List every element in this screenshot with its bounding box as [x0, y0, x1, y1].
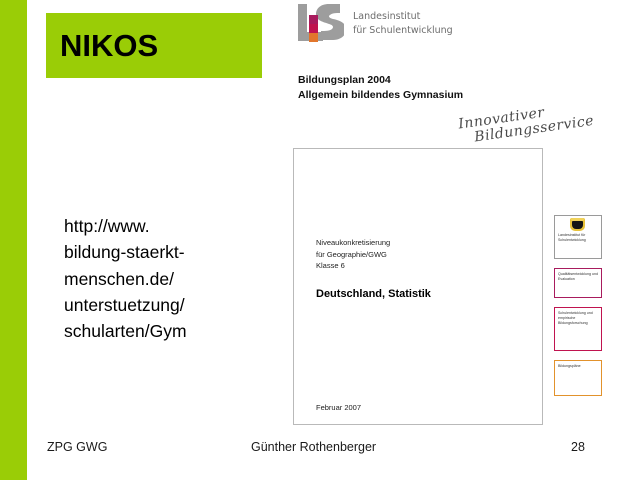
- left-accent-bar: [0, 0, 27, 480]
- thumbnail-item: Schulentwicklung und empirische Bildungs…: [554, 307, 602, 351]
- landesinstitut-logo: Landesinstitut für Schulentwicklung: [296, 2, 453, 46]
- thumbnail-label: Schulentwicklung und empirische Bildungs…: [558, 311, 593, 325]
- heading-line-1: Bildungsplan 2004: [298, 73, 463, 88]
- document-preview: Landesinstitut für Schulentwicklung Bild…: [292, 0, 640, 430]
- logo-text: Landesinstitut für Schulentwicklung: [353, 10, 453, 38]
- url-line-1: http://www.: [64, 213, 264, 239]
- footer-page-number: 28: [571, 440, 585, 454]
- url-line-4: unterstuetzung/: [64, 292, 264, 318]
- sheet-meta-line-2: für Geographie/GWG: [316, 249, 390, 261]
- sheet-meta: Niveaukonkretisierung für Geographie/GWG…: [316, 237, 390, 272]
- url-line-3: menschen.de/: [64, 266, 264, 292]
- thumbnail-item: Landesinstitut für Schulentwicklung: [554, 215, 602, 259]
- thumbnail-column: Landesinstitut für Schulentwicklung Qual…: [554, 215, 606, 405]
- sheet-meta-line-1: Niveaukonkretisierung: [316, 237, 390, 249]
- url-text[interactable]: http://www. bildung-staerkt- menschen.de…: [64, 213, 264, 344]
- sheet-title: Deutschland, Statistik: [316, 288, 431, 300]
- sheet-meta-line-3: Klasse 6: [316, 260, 390, 272]
- ls-monogram-icon: [296, 2, 344, 46]
- thumbnail-item: Qualitätsentwicklung und Evaluation: [554, 268, 602, 298]
- thumbnail-label: Landesinstitut für Schulentwicklung: [558, 233, 586, 242]
- sheet-date: Februar 2007: [316, 403, 361, 412]
- thumbnail-label: Bildungspläne: [558, 364, 581, 368]
- page-title: NIKOS: [46, 30, 158, 61]
- footer-left: ZPG GWG: [47, 440, 107, 454]
- thumbnail-label: Qualitätsentwicklung und Evaluation: [558, 272, 598, 281]
- url-line-2: bildung-staerkt-: [64, 239, 264, 265]
- slide: NIKOS http://www. bildung-staerkt- mensc…: [0, 0, 640, 480]
- slide-footer: ZPG GWG Günther Rothenberger 28: [0, 437, 640, 463]
- baden-wuerttemberg-crest-icon: [570, 218, 585, 231]
- footer-author: Günther Rothenberger: [251, 440, 376, 454]
- title-block: NIKOS: [46, 13, 262, 78]
- heading-line-2: Allgemein bildendes Gymnasium: [298, 88, 463, 103]
- logo-text-line-1: Landesinstitut: [353, 10, 453, 24]
- logo-text-line-2: für Schulentwicklung: [353, 24, 453, 38]
- document-heading: Bildungsplan 2004 Allgemein bildendes Gy…: [298, 73, 463, 103]
- thumbnail-item: Bildungspläne: [554, 360, 602, 396]
- document-sheet: Niveaukonkretisierung für Geographie/GWG…: [293, 148, 543, 425]
- url-line-5: schularten/Gym: [64, 318, 264, 344]
